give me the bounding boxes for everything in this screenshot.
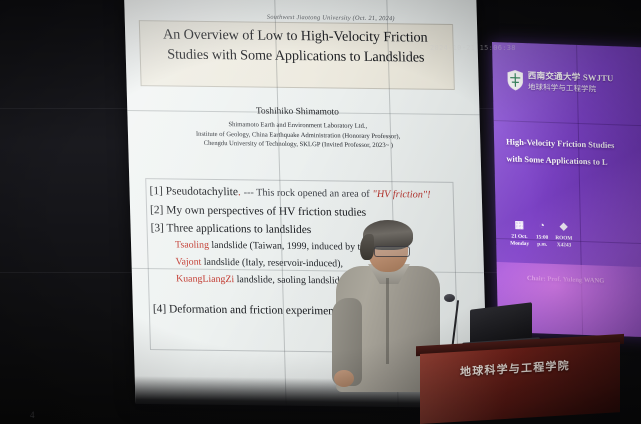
microphone-head [444, 294, 455, 302]
corner-mark: 4 [30, 410, 35, 420]
room-wall-left [0, 0, 130, 424]
timestamp-overlay: 2024-10-21 15:06:38 [430, 44, 516, 52]
speaker-glasses [374, 246, 410, 257]
podium: 地球科学与工程学院 [420, 340, 620, 424]
podium-highlight [420, 342, 620, 424]
speaker-shirt-placket [386, 278, 389, 364]
led-video-wall: 西南交通大学 SWJTU 地球科学与工程学院 High-Velocity Fri… [492, 42, 641, 338]
speaker-hand [334, 370, 354, 387]
speaker-hair-side [360, 234, 374, 260]
lecture-hall-photo: Southwest Jiaotong University (Oct. 21, … [0, 0, 641, 424]
